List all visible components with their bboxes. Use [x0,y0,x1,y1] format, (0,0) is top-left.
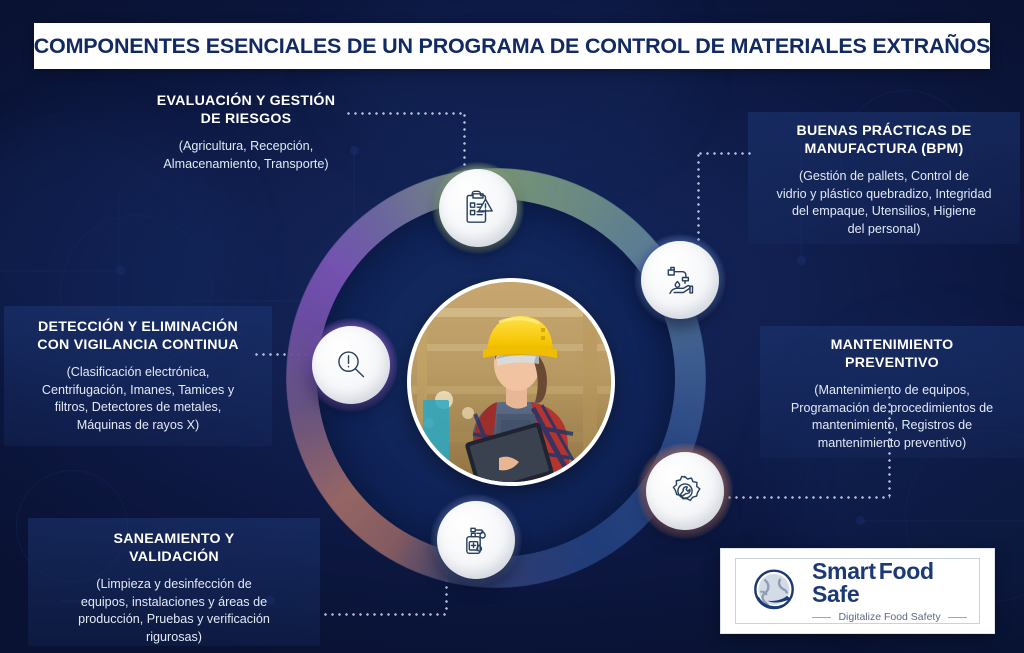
brand-logo[interactable]: SmartFoodSafe Digitalize Food Safety [720,548,995,634]
panel-title-evaluacion: EVALUACIÓN Y GESTIÓN DE RIESGOS [128,92,364,129]
panel-mantenimiento-preventivo: MANTENIMIENTO PREVENTIVO (Mantenimiento … [764,336,1020,452]
node-mantenimiento-preventivo[interactable] [646,452,724,530]
panel-body-mantenimiento: (Mantenimiento de equipos, Programación … [764,382,1020,453]
sanitizer-bottle-icon [456,520,496,560]
brand-name: SmartFoodSafe [812,560,967,606]
brand-tagline: Digitalize Food Safety [838,612,940,623]
node-deteccion-eliminacion[interactable] [312,326,390,404]
connector-mantenimiento [712,496,890,499]
center-photo [407,278,615,486]
panel-title-deteccion: DETECCIÓN Y ELIMINACIÓN CON VIGILANCIA C… [8,318,268,355]
connector-bpm-run [697,152,753,155]
page-title-bar: COMPONENTES ESENCIALES DE UN PROGRAMA DE… [34,23,990,69]
panel-body-deteccion: (Clasificación electrónica, Centrifugaci… [8,364,268,435]
panel-saneamiento-validacion: SANEAMIENTO Y VALIDACIÓN (Limpieza y des… [32,530,316,646]
node-buenas-practicas-manufactura[interactable] [641,241,719,319]
faucet-hand-icon [660,260,700,300]
page-title: COMPONENTES ESENCIALES DE UN PROGRAMA DE… [34,34,991,59]
node-saneamiento-validacion[interactable] [437,501,515,579]
panel-evaluacion-gestion-riesgos: EVALUACIÓN Y GESTIÓN DE RIESGOS (Agricul… [128,92,364,173]
brand-tagline-row: Digitalize Food Safety [812,612,967,623]
connector-saneamiento [322,613,447,616]
globe-leaf-icon [748,565,800,617]
brand-name-part3: Safe [812,581,859,607]
panel-deteccion-eliminacion: DETECCIÓN Y ELIMINACIÓN CON VIGILANCIA C… [8,318,268,434]
panel-title-bpm: BUENAS PRÁCTICAS DE MANUFACTURA (BPM) [752,122,1016,159]
infographic-canvas: COMPONENTES ESENCIALES DE UN PROGRAMA DE… [0,0,1024,653]
panel-title-saneamiento: SANEAMIENTO Y VALIDACIÓN [32,530,316,567]
magnifier-alert-icon [331,345,371,385]
tagline-rule-left [812,617,831,618]
brand-name-part2: Food [879,558,934,584]
panel-body-bpm: (Gestión de pallets, Control de vidrio y… [752,168,1016,239]
gear-wrench-icon [665,471,705,511]
panel-body-evaluacion: (Agricultura, Recepción, Almacenamiento,… [128,138,364,173]
panel-title-mantenimiento: MANTENIMIENTO PREVENTIVO [764,336,1020,373]
brand-logo-frame: SmartFoodSafe Digitalize Food Safety [735,558,980,624]
tagline-rule-right [948,617,967,618]
panel-buenas-practicas-manufactura: BUENAS PRÁCTICAS DE MANUFACTURA (BPM) (G… [752,122,1016,238]
node-evaluacion-gestion-riesgos[interactable] [439,169,517,247]
panel-body-saneamiento: (Limpieza y desinfección de equipos, ins… [32,576,316,647]
brand-logo-text: SmartFoodSafe Digitalize Food Safety [812,560,967,623]
clipboard-warning-icon [458,188,498,228]
